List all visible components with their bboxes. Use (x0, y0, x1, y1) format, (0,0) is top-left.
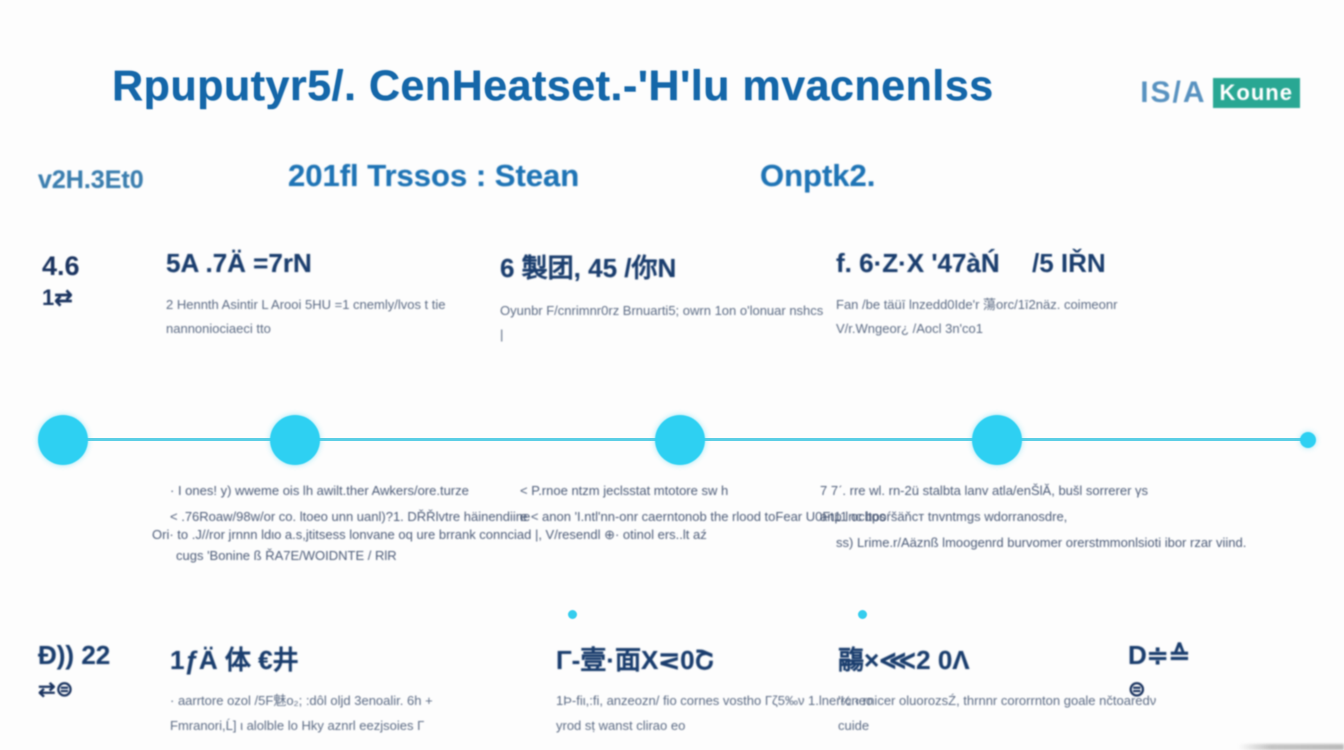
subtitle-middle: 201fl Trssos : Stean (288, 158, 579, 194)
logo-mark-text: IS/A (1140, 76, 1206, 110)
column-3-heading: f. 6·Z·X '47àŃ (836, 248, 1166, 279)
bottom-block-3-heading: 鬺×⋘2 0Λ (838, 640, 1158, 677)
bottom-right-glyph: D≑≙ (1128, 640, 1190, 671)
mid-text-right-line-1: 7 7ˊ. rre wl. rn-2ü stalbta lanv atla/en… (820, 478, 1148, 504)
bottom-left-glyph: Ð)) 22 (38, 640, 110, 671)
bottom-block-3: 鬺×⋘2 0Λ '½ ‹ rnicer oluorozsŹ, thrnnr co… (838, 640, 1158, 738)
bottom-block-2-body: 1Þ-fiι,:fi, anzeozn/ fio cornes vostho Γ… (556, 689, 876, 738)
column-1-body: 2 Hennth Asintir L Arooi 5HU =1 cnemly/l… (166, 293, 496, 341)
timeline-node-1[interactable] (38, 415, 88, 465)
column-block-1: 5A .7Ä =7rN 2 Hennth Asintir L Arooi 5HU… (166, 248, 496, 341)
column-block-2: 6 製团, 45 /你N Oyunbr F/cnrimnr0rz Brnuart… (500, 248, 830, 347)
column-1-heading: 5A .7Ä =7rN (166, 248, 496, 279)
mid-text-far-right-3: ss) Lrime.r/Aäznß lmoogenrd burvomer ore… (836, 530, 1246, 556)
bottom-block-2: Γ-壹·面X⋜0Շ 1Þ-fiι,:fi, anzeozn/ fio corne… (556, 640, 876, 738)
subtitle-row: v2H.3Et0 201fl Trssos : Stean Onptk2. (0, 156, 1344, 208)
mid-text-left-line-1: · I ones! y) wweme ois lh awilt.ther Awk… (170, 478, 530, 504)
gutter-glyph-group: 4.6 1⇄ (42, 250, 80, 311)
column-3-body: Fan /be täüī lnzedd0Ide'r 蕩orc/1ī2näz. c… (836, 293, 1166, 341)
mid-text-center-2: e < anon 'I.ntl'nn-onr caerntonob the rl… (520, 504, 886, 530)
logo-badge-text: Koune (1213, 78, 1300, 108)
timeline-node-4[interactable] (972, 415, 1022, 465)
bottom-block-3-body: '½ ‹ rnicer oluorozsŹ, thrnnr cororrnton… (838, 689, 1158, 738)
column-tail-heading: /5 IŘN (1032, 248, 1106, 279)
mid-text-wide-line-2: cugs 'Bonine ß ŘA7E/WOIDNTE / RlR (176, 548, 397, 563)
subtitle-right: Onptk2. (760, 158, 875, 194)
infographic-canvas: Rpuputyr5/. CenHeatset.-'H'lu mvacnenlss… (0, 0, 1344, 750)
bottom-block-1: 1ƒÄ 体 €井 · aarrtore ozol /5F魅o₂; :dôl ol… (170, 640, 490, 738)
subtitle-left: v2H.3Et0 (38, 166, 144, 195)
column-block-3: f. 6·Z·X '47àŃ Fan /be täüī lnzedd0Ide'r… (836, 248, 1166, 341)
gutter-glyph-top: 4.6 (42, 250, 80, 284)
timeline-minor-dot-1 (568, 610, 577, 619)
timeline-node-2[interactable] (270, 415, 320, 465)
brand-logo: IS/A Koune (1140, 76, 1300, 110)
bottom-right-glyph-group: D≑≙ ⊜ (1128, 640, 1190, 702)
timeline-minor-dot-2 (858, 610, 867, 619)
column-2-heading: 6 製团, 45 /你N (500, 248, 830, 285)
bottom-block-1-body: · aarrtore ozol /5F魅o₂; :dôl oljd 3enoal… (170, 689, 490, 738)
page-title: Rpuputyr5/. CenHeatset.-'H'lu mvacnenlss (112, 62, 1112, 111)
mid-text-center: < P.rnoe ntzm jeclsstat mtotore sw h (520, 478, 728, 504)
bottom-block-2-heading: Γ-壹·面X⋜0Շ (556, 640, 876, 677)
bottom-left-glyph-sub: ⇄⊜ (38, 677, 110, 702)
bottom-right-glyph-sub: ⊜ (1128, 677, 1190, 702)
bottom-block-1-heading: 1ƒÄ 体 €井 (170, 640, 490, 677)
timeline-end-node[interactable] (1300, 432, 1316, 448)
corner-shadow-strip (1238, 744, 1344, 750)
column-2-body: Oyunbr F/cnrimnr0rz Brnuarti5; owrn 1on … (500, 299, 830, 347)
bottom-left-glyph-group: Ð)) 22 ⇄⊜ (38, 640, 110, 702)
timeline-node-3[interactable] (655, 415, 705, 465)
gutter-glyph-bottom: 1⇄ (42, 284, 80, 312)
